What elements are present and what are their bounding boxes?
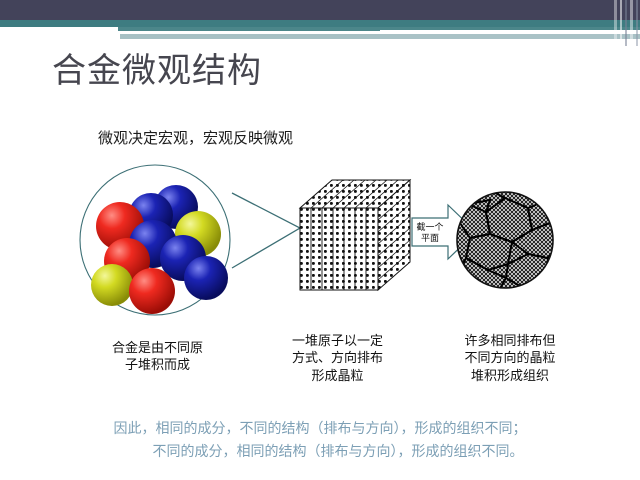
header-vertical-stripe-5 (636, 0, 638, 46)
caption-atom-cluster: 合金是由不同原 子堆积而成 (95, 340, 220, 375)
lattice-cube-icon (300, 180, 410, 290)
conclusion-text: 因此，相同的成分，不同的结构（排布与方向），形成的组织不同； 不同的成分，相同的… (0, 418, 640, 463)
header-vertical-stripe-1 (614, 0, 617, 46)
header-vertical-stripe-4 (630, 0, 633, 46)
atom-cluster-icon (80, 165, 230, 315)
caption-grain-structure: 许多相同排布但 不同方向的晶粒 堆积形成组织 (446, 333, 574, 385)
slide-root: 合金微观结构 微观决定宏观，宏观反映微观 (0, 0, 640, 480)
header-navy-band (0, 0, 640, 20)
header-teal-band (0, 20, 640, 27)
conclusion-line-2: 不同的成分，相同的结构（排布与方向），形成的组织不同。 (0, 441, 640, 464)
slide-subtitle: 微观决定宏观，宏观反映微观 (98, 127, 293, 148)
arrow-label-line2: 平面 (421, 233, 439, 244)
header-vertical-stripe-2 (620, 0, 622, 46)
header-pale-rule-right (380, 34, 640, 39)
grain-structure-icon (455, 188, 562, 292)
header-vertical-stripe-3 (625, 0, 627, 46)
slide-header-decoration (0, 0, 640, 46)
caption-lattice-cube: 一堆原子以一定 方式、方向排布 形成晶粒 (275, 333, 400, 385)
diagram-figure: 截一个 平面 (0, 160, 640, 320)
arrow-label-line1: 截一个 (416, 221, 443, 233)
conclusion-line-1: 因此，相同的成分，不同的结构（排布与方向），形成的组织不同； (0, 418, 640, 441)
page-title: 合金微观结构 (52, 52, 262, 91)
connector-line-icon (232, 193, 300, 268)
